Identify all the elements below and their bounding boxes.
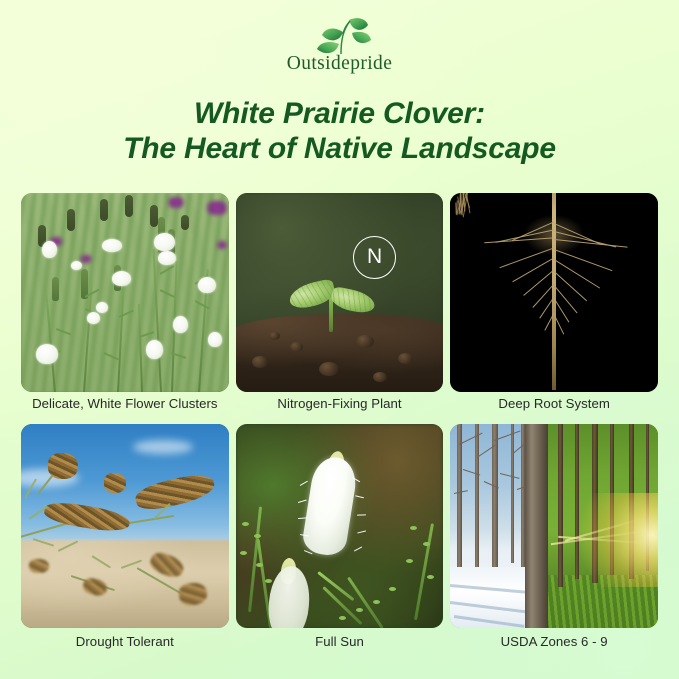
seasons-split-illustration bbox=[450, 424, 658, 628]
page-title-line-1: White Prairie Clover: bbox=[0, 96, 679, 131]
root-system-illustration bbox=[450, 193, 658, 392]
soil-mound bbox=[236, 314, 444, 392]
image-usda-zones bbox=[450, 424, 658, 628]
caption-nitrogen-fixing: Nitrogen-Fixing Plant bbox=[236, 392, 444, 412]
image-deep-roots bbox=[450, 193, 658, 392]
image-drought-tolerant bbox=[21, 424, 229, 628]
leaf-sprig-icon bbox=[303, 14, 377, 56]
page-title-line-2: The Heart of Native Landscape bbox=[0, 131, 679, 166]
feature-grid: Delicate, White Flower Clusters bbox=[21, 193, 658, 650]
grid-cell-drought-tolerant: Drought Tolerant bbox=[21, 424, 229, 650]
image-flower-clusters bbox=[21, 193, 229, 392]
grid-cell-nitrogen-fixing: N Nitrogen-Fixing Plant bbox=[236, 193, 444, 412]
caption-deep-roots: Deep Root System bbox=[450, 392, 658, 412]
full-sun-illustration bbox=[236, 424, 444, 628]
page-title: White Prairie Clover: The Heart of Nativ… bbox=[0, 96, 679, 166]
grid-cell-usda-zones: USDA Zones 6 - 9 bbox=[450, 424, 658, 650]
image-full-sun bbox=[236, 424, 444, 628]
grid-cell-flower-clusters: Delicate, White Flower Clusters bbox=[21, 193, 229, 412]
brand-logo: Outsidepride bbox=[0, 14, 679, 80]
drought-illustration bbox=[21, 424, 229, 628]
caption-drought-tolerant: Drought Tolerant bbox=[21, 628, 229, 650]
grid-cell-deep-roots: Deep Root System bbox=[450, 193, 658, 412]
caption-usda-zones: USDA Zones 6 - 9 bbox=[450, 628, 658, 650]
brand-wordmark: Outsidepride bbox=[0, 54, 679, 74]
infographic-canvas: Outsidepride White Prairie Clover: The H… bbox=[0, 0, 679, 679]
caption-full-sun: Full Sun bbox=[236, 628, 444, 650]
image-nitrogen-fixing: N bbox=[236, 193, 444, 392]
meadow-illustration bbox=[21, 193, 229, 392]
grid-cell-full-sun: Full Sun bbox=[236, 424, 444, 650]
seedling-illustration: N bbox=[236, 193, 444, 392]
foreground-tree-trunk bbox=[525, 424, 548, 628]
caption-flower-clusters: Delicate, White Flower Clusters bbox=[21, 392, 229, 412]
